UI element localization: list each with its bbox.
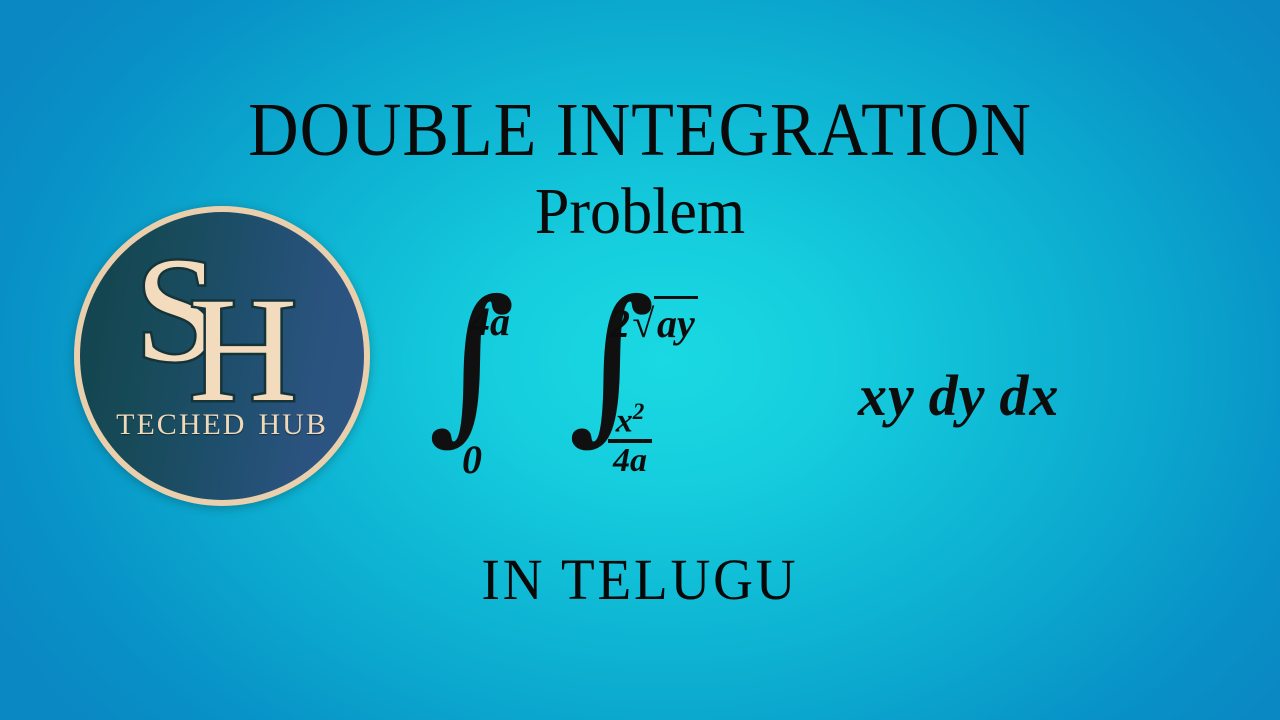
- math-formula: ∫ 4a 0 ∫ 2√ay x2 4a xydydx: [424, 296, 1060, 526]
- footer-text: IN TELUGU: [32, 548, 1248, 612]
- outer-differential: dx: [1000, 363, 1060, 428]
- outer-integral: ∫ 4a 0: [424, 296, 544, 496]
- video-thumbnail-slide: DOUBLE INTEGRATION Problem S H TECHEDHUB…: [0, 0, 1280, 720]
- fraction-numerator-base: x: [616, 402, 633, 439]
- outer-upper-limit: 4a: [470, 298, 510, 345]
- page-title: DOUBLE INTEGRATION: [51, 88, 1229, 172]
- brand-name-word1: TECHED: [116, 408, 246, 441]
- fraction-numerator: x2: [608, 400, 652, 439]
- inner-upper-radicand: ay: [654, 296, 698, 347]
- inner-differential: dy: [929, 363, 986, 428]
- inner-integral: ∫ 2√ay x2 4a: [562, 296, 772, 496]
- integrand-expression: xydydx: [858, 362, 1060, 429]
- svg-text:H: H: [189, 267, 297, 420]
- square-root-icon: √ay: [630, 296, 698, 347]
- brand-name: TECHEDHUB: [80, 408, 364, 442]
- radical-glyph: √: [632, 301, 654, 346]
- brand-logo: S H TECHEDHUB: [74, 206, 370, 506]
- inner-upper-coefficient: 2: [610, 301, 630, 346]
- inner-lower-limit: x2 4a: [608, 400, 652, 479]
- brand-name-word2: HUB: [258, 408, 327, 441]
- fraction-denominator: 4a: [608, 439, 652, 479]
- fraction: x2 4a: [608, 400, 652, 479]
- inner-upper-limit: 2√ay: [610, 296, 698, 347]
- monogram-icon: S H: [80, 240, 364, 430]
- outer-lower-limit: 0: [462, 436, 482, 483]
- fraction-numerator-exponent: 2: [633, 399, 645, 425]
- integrand-term: xy: [858, 363, 915, 428]
